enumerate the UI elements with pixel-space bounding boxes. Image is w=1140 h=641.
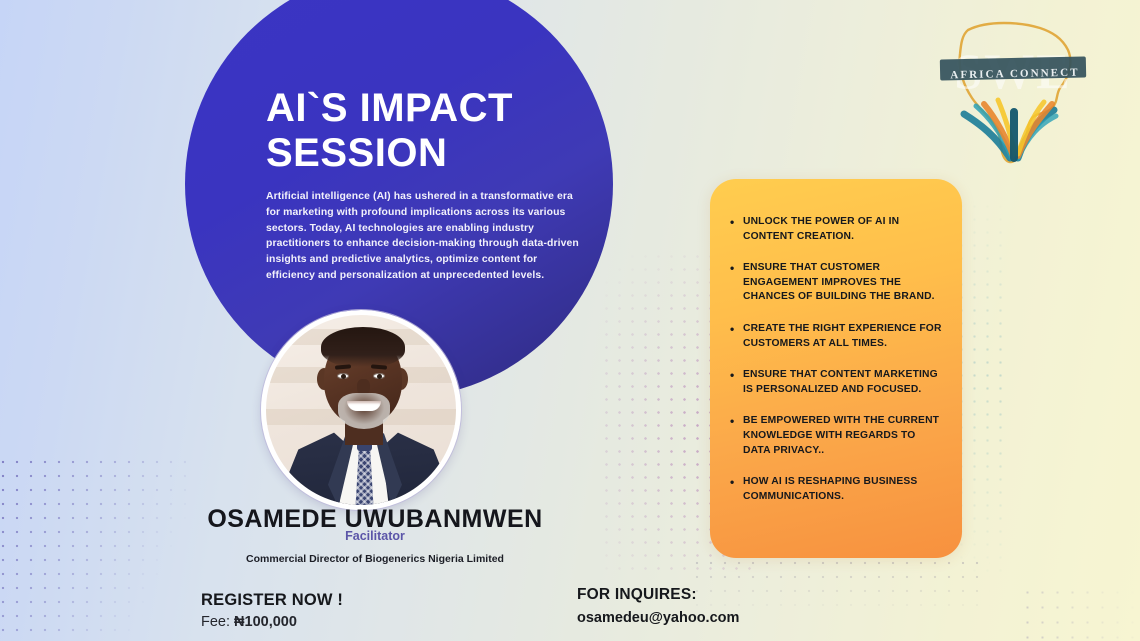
photo-pupil-left [341,374,346,379]
dot-pattern-mid-right [955,200,1010,580]
africa-connect-logo: SWE AFRICA CONNECT [928,8,1098,178]
contact-email-link[interactable]: osamedeu@yahoo.com [577,610,739,626]
dot-pattern-bottom-right [1020,585,1140,641]
benefits-list: UNLOCK THE POWER OF AI IN CONTENT CREATI… [730,215,942,505]
photo-smile [347,401,381,411]
photo-pupil-right [377,374,382,379]
benefit-item: BE EMPOWERED WITH THE CURRENT KNOWLEDGE … [730,414,942,458]
fee-amount: ₦100,000 [234,614,297,630]
register-heading: REGISTER NOW ! [201,591,343,610]
speaker-role: Facilitator [180,529,570,543]
speaker-photo [261,310,461,510]
fee-line: Fee: ₦100,000 [201,614,297,630]
fee-label: Fee: [201,614,230,630]
benefit-item: HOW AI IS RESHAPING BUSINESS COMMUNICATI… [730,475,942,504]
benefit-item: ENSURE THAT CUSTOMER ENGAGEMENT IMPROVES… [730,261,942,305]
benefit-item: UNLOCK THE POWER OF AI IN CONTENT CREATI… [730,215,942,244]
photo-hair [321,327,405,367]
benefit-item: CREATE THE RIGHT EXPERIENCE FOR CUSTOMER… [730,322,942,351]
page-title: AI`S IMPACT SESSION [266,86,596,176]
benefits-card: UNLOCK THE POWER OF AI IN CONTENT CREATI… [710,179,962,558]
hero-description: Artificial intelligence (AI) has ushered… [266,189,584,284]
inquires-heading: FOR INQUIRES: [577,586,697,604]
photo-beard [338,393,390,429]
speaker-organization: Commercial Director of Biogenerics Niger… [180,552,570,566]
dot-pattern-bottom-left [0,455,186,641]
benefit-item: ENSURE THAT CONTENT MARKETING IS PERSONA… [730,368,942,397]
